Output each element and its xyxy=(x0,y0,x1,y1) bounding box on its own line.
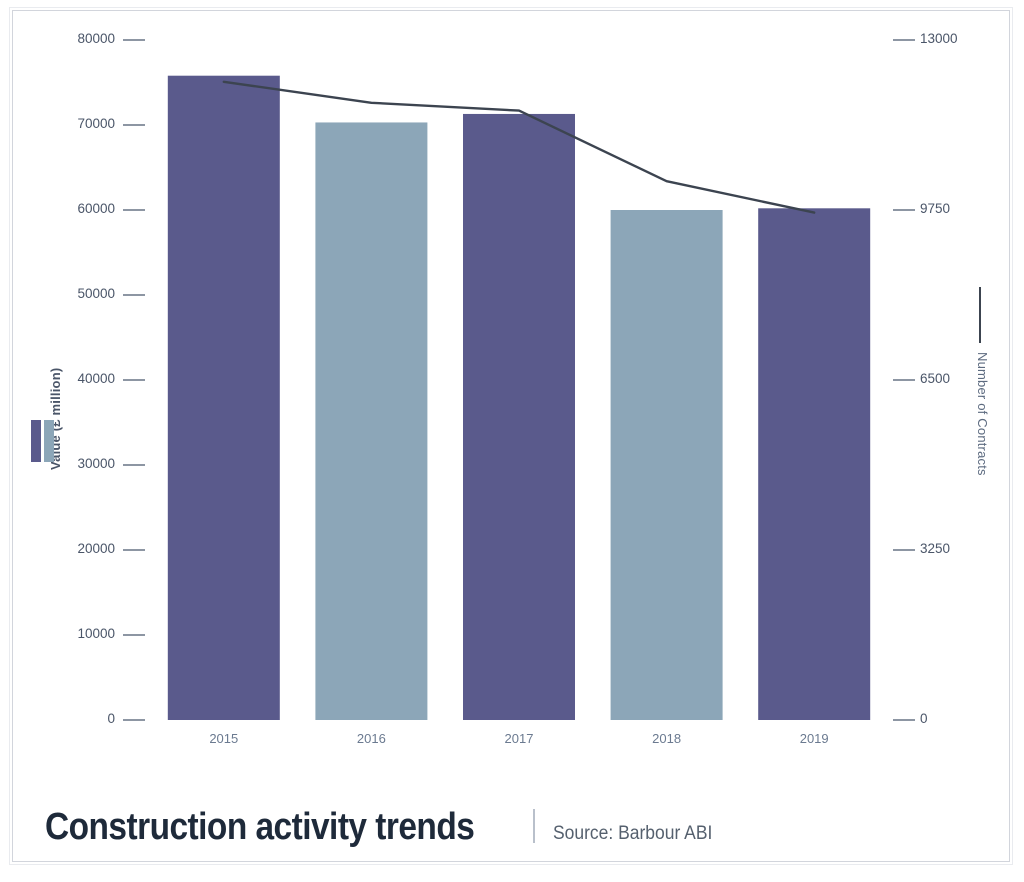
right-tick-label-13000: 13000 xyxy=(920,31,1000,46)
right-axis-title: Number of Contracts xyxy=(975,352,990,476)
chart-svg xyxy=(0,0,1024,882)
bar-series-legend xyxy=(31,420,54,462)
bars-group xyxy=(168,76,870,720)
legend-swatch-light xyxy=(44,420,54,462)
left-tick-label-20000: 20000 xyxy=(20,541,115,556)
left-tick-label-40000: 40000 xyxy=(20,371,115,386)
legend-swatch-dark xyxy=(31,420,41,462)
left-tick-label-0: 0 xyxy=(20,711,115,726)
left-tick-label-70000: 70000 xyxy=(20,116,115,131)
bar-2015 xyxy=(168,76,280,720)
bar-2019 xyxy=(758,208,870,720)
category-label-2018: 2018 xyxy=(617,731,717,746)
page-title: Construction activity trends xyxy=(45,806,474,849)
plot-area: 0100002000030000400005000060000700008000… xyxy=(0,0,1024,882)
left-tick-label-60000: 60000 xyxy=(20,201,115,216)
left-tick-label-10000: 10000 xyxy=(20,626,115,641)
footer: Construction activity trends Source: Bar… xyxy=(45,805,726,849)
bar-2016 xyxy=(315,122,427,720)
category-label-2015: 2015 xyxy=(174,731,274,746)
legend-line-marker xyxy=(979,287,981,343)
left-tick-label-80000: 80000 xyxy=(20,31,115,46)
chart-page: 0100002000030000400005000060000700008000… xyxy=(0,0,1024,882)
right-tick-label-3250: 3250 xyxy=(920,541,1000,556)
category-label-2016: 2016 xyxy=(321,731,421,746)
footer-divider xyxy=(533,809,535,843)
left-tick-label-50000: 50000 xyxy=(20,286,115,301)
bar-2017 xyxy=(463,114,575,720)
category-label-2017: 2017 xyxy=(469,731,569,746)
right-tick-label-9750: 9750 xyxy=(920,201,1000,216)
right-tick-label-0: 0 xyxy=(920,711,1000,726)
source-label: Source: Barbour ABI xyxy=(553,823,712,845)
category-label-2019: 2019 xyxy=(764,731,864,746)
bar-2018 xyxy=(611,210,723,720)
